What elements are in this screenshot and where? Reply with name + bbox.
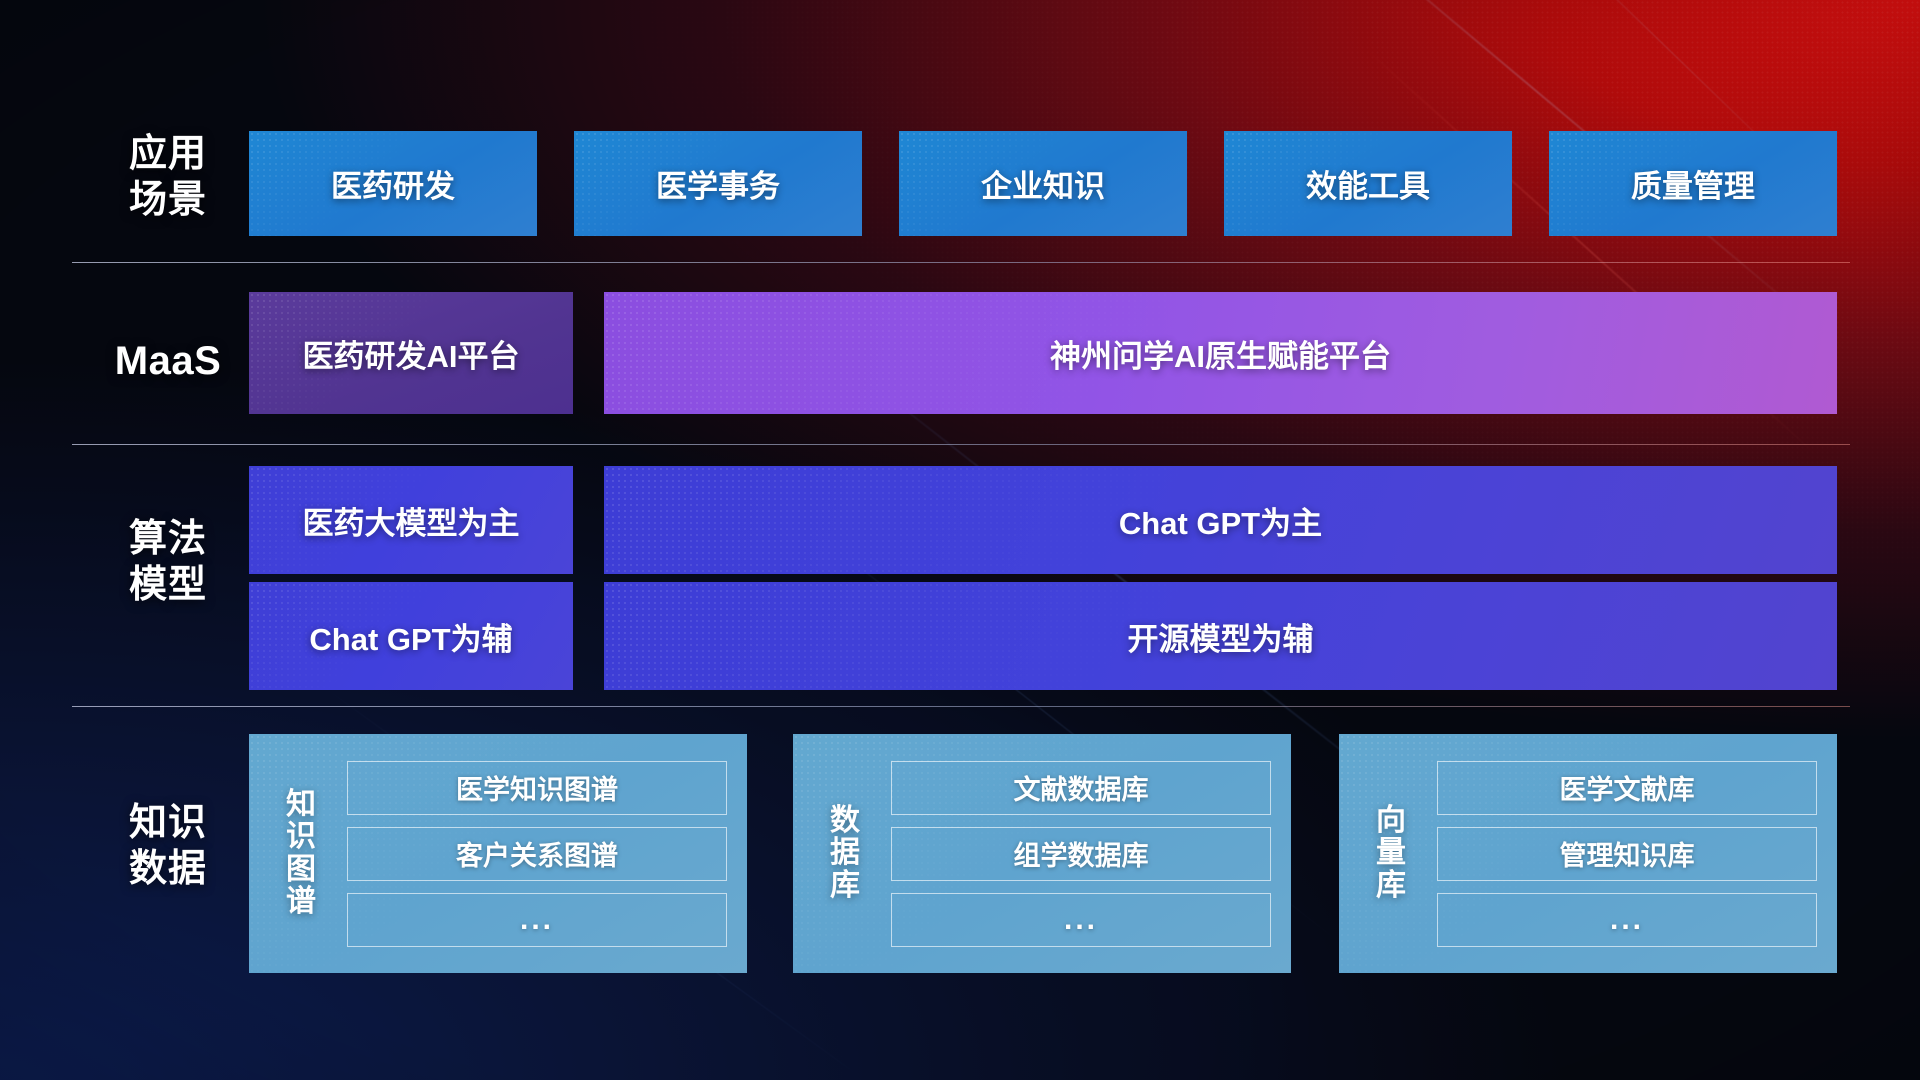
knowledge-item-more[interactable]: ... [1437,893,1817,947]
knowledge-panel-knowledge-graph[interactable]: 知识图谱 医学知识图谱 客户关系图谱 ... [249,734,747,973]
knowledge-panel-side-label: 数据库 [813,805,877,902]
knowledge-item-more[interactable]: ... [347,893,727,947]
algo-tile-chatgpt-secondary[interactable]: Chat GPT为辅 [249,582,573,690]
row-label-line2: 数据 [78,846,258,892]
maas-tile-shenzhou-wenxue-platform[interactable]: 神州问学AI原生赋能平台 [604,292,1837,414]
knowledge-panel-side-label: 知识图谱 [269,789,333,919]
row-label-line1: 应用 [78,131,258,177]
knowledge-panel-items: 医学文献库 管理知识库 ... [1437,761,1817,947]
app-tile-quality-management[interactable]: 质量管理 [1549,131,1837,236]
row-label-maas: MaaS [78,337,258,386]
app-tile-medical-affairs[interactable]: 医学事务 [574,131,862,236]
algo-tile-label: Chat GPT为辅 [309,614,512,659]
knowledge-item-more[interactable]: ... [891,893,1271,947]
knowledge-item[interactable]: 医学文献库 [1437,761,1817,815]
app-tile-label: 效能工具 [1306,161,1430,206]
knowledge-panel-database[interactable]: 数据库 文献数据库 组学数据库 ... [793,734,1291,973]
algo-tile-pharma-llm-primary[interactable]: 医药大模型为主 [249,466,573,574]
row-label-line2: 场景 [78,177,258,223]
divider-3 [72,706,1850,707]
app-tile-medical-rnd[interactable]: 医药研发 [249,131,537,236]
knowledge-item[interactable]: 文献数据库 [891,761,1271,815]
knowledge-item[interactable]: 组学数据库 [891,827,1271,881]
algo-tile-chatgpt-primary[interactable]: Chat GPT为主 [604,466,1837,574]
knowledge-item[interactable]: 客户关系图谱 [347,827,727,881]
knowledge-panel-vector-store[interactable]: 向量库 医学文献库 管理知识库 ... [1339,734,1837,973]
app-tile-label: 企业知识 [981,161,1105,206]
row-label-line1: 知识 [78,800,258,846]
algo-tile-label: 开源模型为辅 [1128,614,1314,659]
row-label-knowledge-data: 知识 数据 [78,800,258,893]
maas-tile-label: 神州问学AI原生赋能平台 [1050,331,1391,376]
knowledge-item[interactable]: 管理知识库 [1437,827,1817,881]
maas-tile-label: 医药研发AI平台 [303,331,520,376]
algo-tile-opensource-secondary[interactable]: 开源模型为辅 [604,582,1837,690]
row-label-application-scenario: 应用 场景 [78,131,258,224]
app-tile-enterprise-knowledge[interactable]: 企业知识 [899,131,1187,236]
app-tile-efficiency-tools[interactable]: 效能工具 [1224,131,1512,236]
maas-tile-pharma-ai-platform[interactable]: 医药研发AI平台 [249,292,573,414]
knowledge-panel-side-label: 向量库 [1359,805,1423,902]
slide-canvas: 应用 场景 医药研发 医学事务 企业知识 效能工具 质量管理 MaaS [0,0,1920,1080]
knowledge-item[interactable]: 医学知识图谱 [347,761,727,815]
divider-2 [72,444,1850,445]
architecture-diagram: 应用 场景 医药研发 医学事务 企业知识 效能工具 质量管理 MaaS [0,0,1920,1080]
algo-tile-label: Chat GPT为主 [1119,498,1322,543]
row-label-line1: 算法 [78,516,258,562]
row-label-line2: 模型 [78,562,258,608]
row-label-text: MaaS [78,337,258,386]
algo-tile-label: 医药大模型为主 [303,498,520,543]
app-tile-label: 医药研发 [331,161,455,206]
app-tile-label: 质量管理 [1631,161,1755,206]
divider-1 [72,262,1850,263]
app-tile-label: 医学事务 [656,161,780,206]
knowledge-panel-items: 文献数据库 组学数据库 ... [891,761,1271,947]
knowledge-panel-items: 医学知识图谱 客户关系图谱 ... [347,761,727,947]
row-label-algorithm-model: 算法 模型 [78,516,258,609]
